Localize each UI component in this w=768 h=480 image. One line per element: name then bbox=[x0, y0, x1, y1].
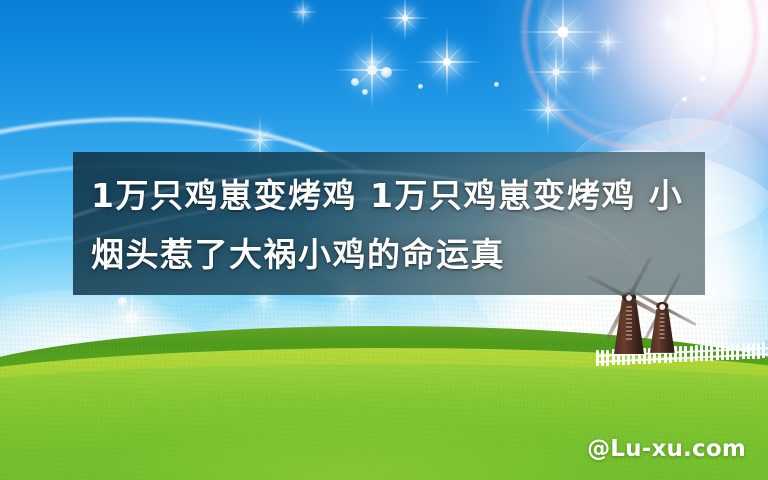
fence-picket bbox=[601, 350, 604, 366]
fence-picket bbox=[684, 346, 687, 362]
page-title: 1万只鸡崽变烤鸡 1万只鸡崽变烤鸡 小烟头惹了大祸小鸡的命运真 bbox=[73, 152, 705, 284]
fence-picket bbox=[705, 345, 708, 361]
fence-picket bbox=[736, 344, 739, 360]
title-banner: 1万只鸡崽变烤鸡 1万只鸡崽变烤鸡 小烟头惹了大祸小鸡的命运真 bbox=[73, 152, 705, 295]
windmill-blade bbox=[662, 305, 697, 326]
windmill-hub bbox=[659, 304, 665, 310]
fence-picket bbox=[679, 346, 682, 362]
fence-picket bbox=[700, 345, 703, 361]
fence-picket bbox=[731, 344, 734, 360]
fence-picket bbox=[726, 344, 729, 360]
windmill-right bbox=[650, 302, 675, 353]
hill-front bbox=[0, 364, 768, 480]
flare-bubble bbox=[670, 92, 732, 154]
fence-picket bbox=[596, 350, 599, 366]
fence-picket bbox=[747, 343, 750, 359]
fence-picket bbox=[695, 345, 698, 361]
fence-picket bbox=[752, 343, 755, 359]
watermark: @Lu-xu.com bbox=[587, 436, 746, 462]
fence-picket bbox=[716, 344, 719, 360]
fence-picket bbox=[757, 343, 760, 359]
fence-picket bbox=[742, 343, 745, 359]
fence-picket bbox=[721, 344, 724, 360]
fence-picket bbox=[606, 350, 609, 366]
thumbnail-canvas: 1万只鸡崽变烤鸡 1万只鸡崽变烤鸡 小烟头惹了大祸小鸡的命运真 @Lu-xu.c… bbox=[0, 0, 768, 480]
fence-picket bbox=[710, 345, 713, 361]
fence-picket bbox=[690, 346, 693, 362]
fence-picket bbox=[762, 342, 765, 358]
windmill-blade bbox=[643, 306, 664, 341]
